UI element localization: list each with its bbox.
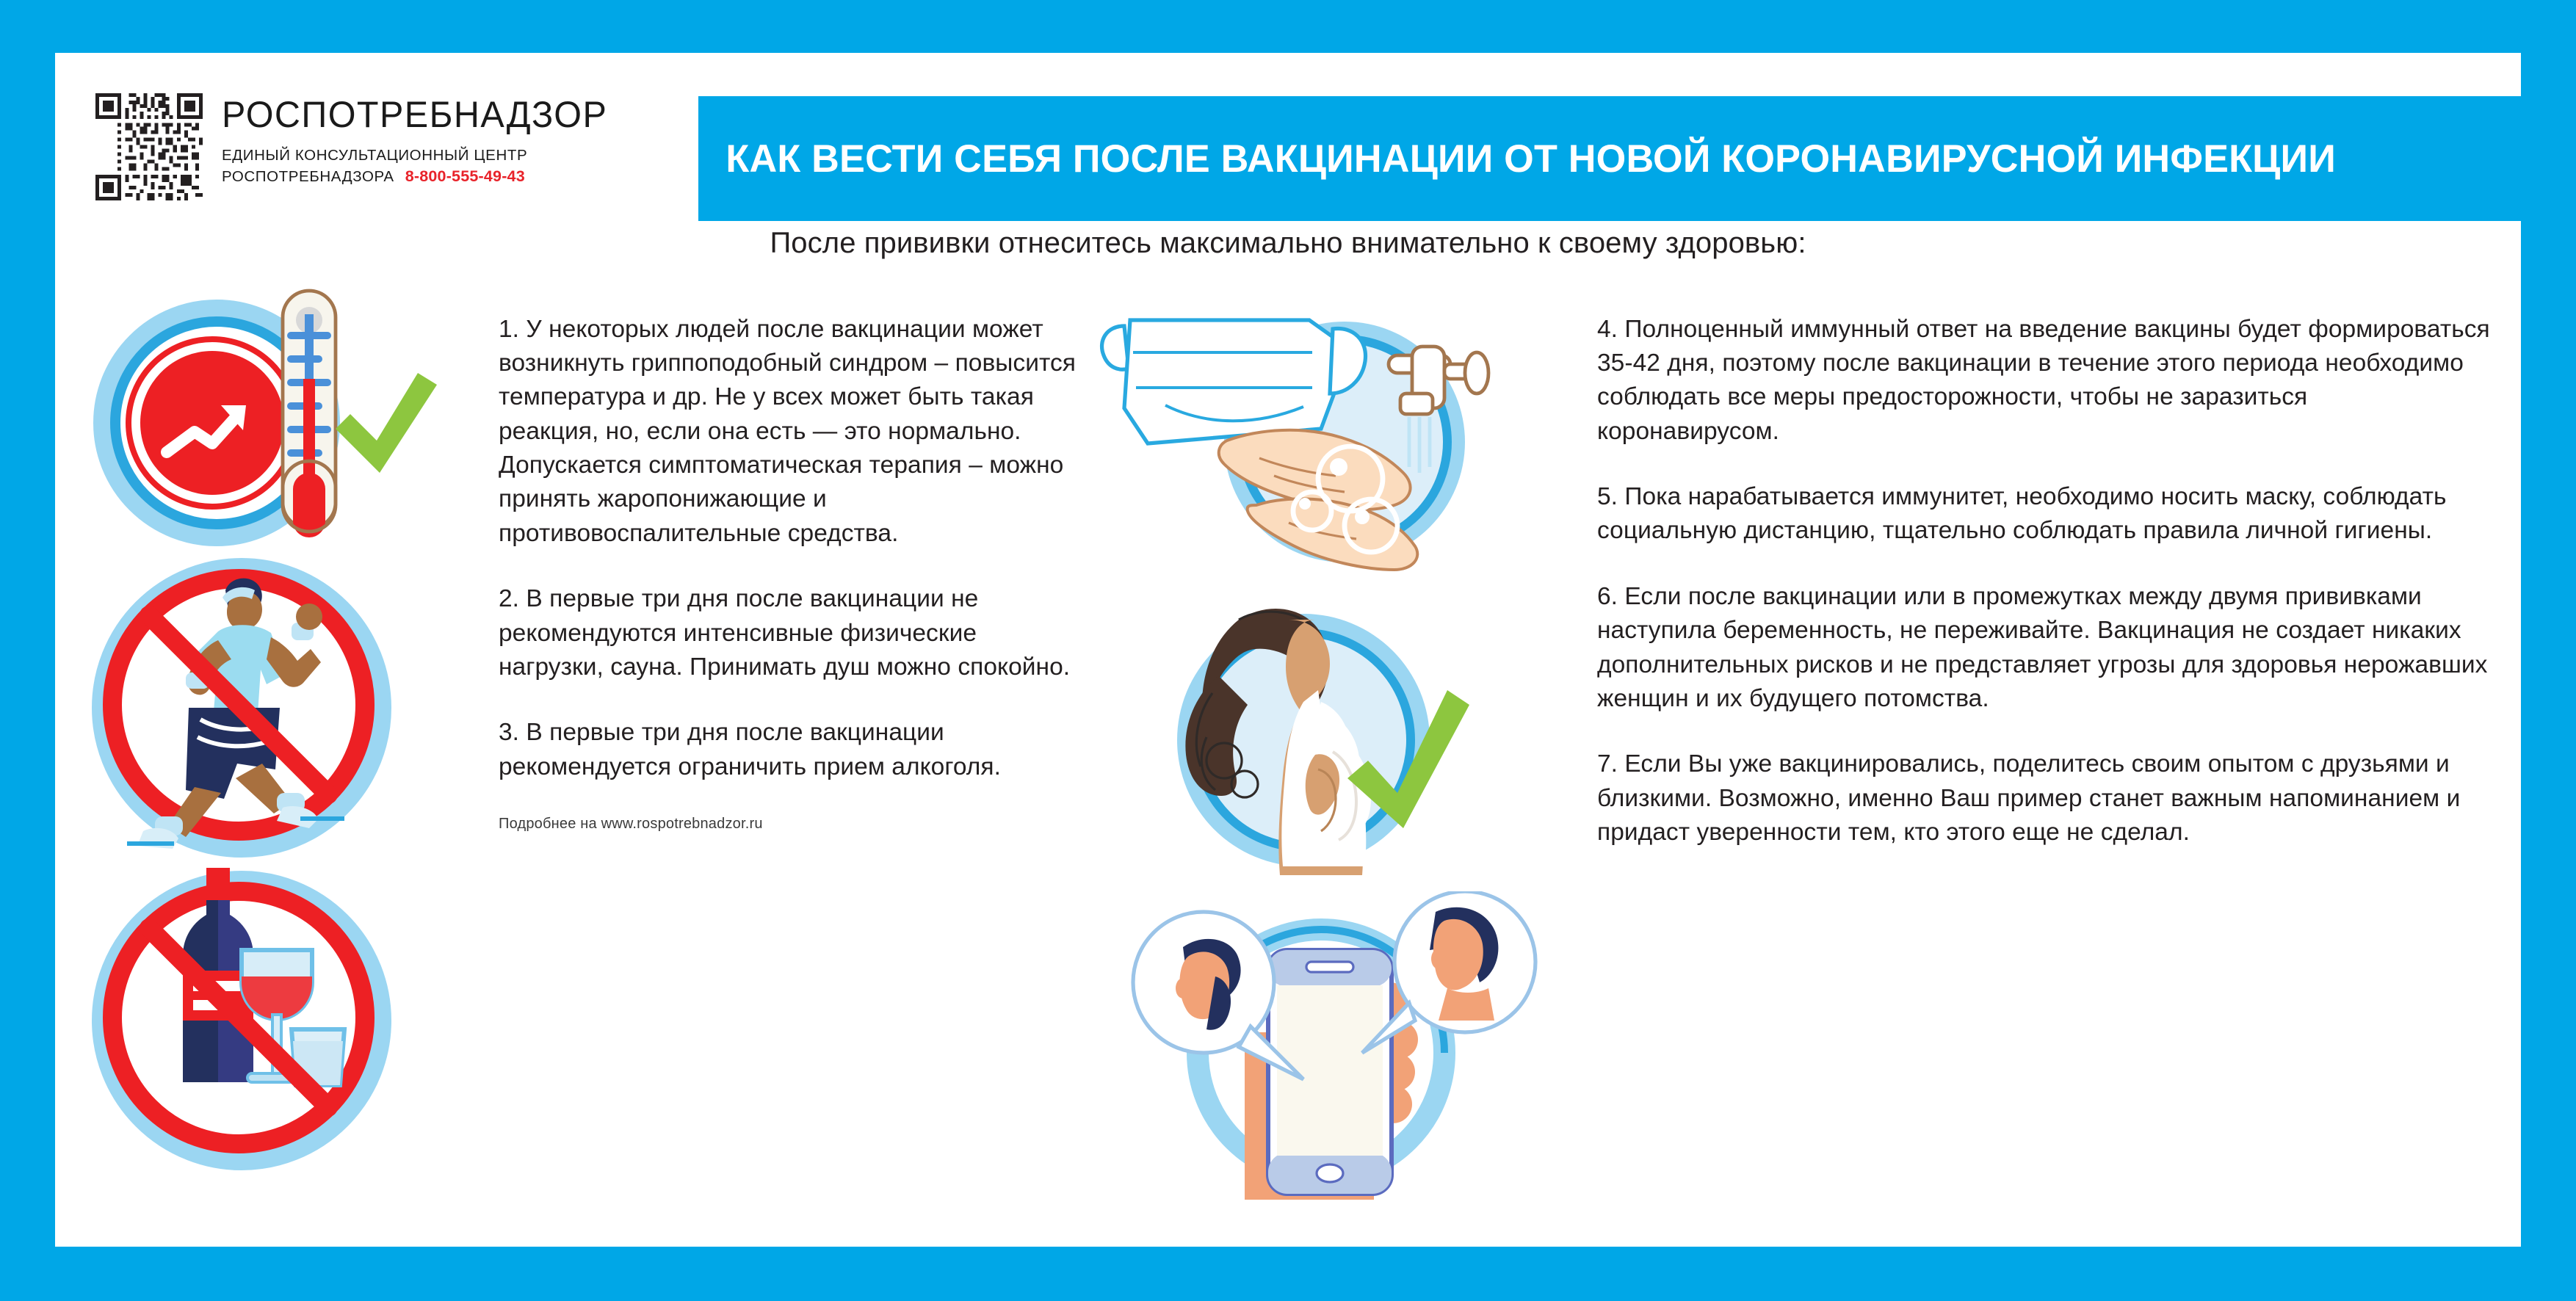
left-icon-column (77, 288, 488, 1176)
body-area: 1. У некоторых людей после вакцинации мо… (55, 288, 2521, 1247)
banner-title: КАК ВЕСТИ СЕБЯ ПОСЛЕ ВАКЦИНАЦИИ ОТ НОВОЙ… (698, 137, 2336, 181)
share-experience-phone-icon (1098, 891, 1553, 1200)
tip-paragraph-5: 5. Пока нарабатывается иммунитет, необхо… (1597, 480, 2493, 548)
left-text-column: 1. У некоторых людей после вакцинации мо… (499, 288, 1079, 833)
tip-paragraph-2: 2. В первые три дня после вакцинации не … (499, 582, 1079, 684)
poster-white-sheet: РОСПОТРЕБНАДЗОР ЕДИНЫЙ КОНСУЛЬТАЦИОННЫЙ … (55, 53, 2521, 1247)
pregnant-woman-icon (1098, 596, 1553, 905)
header-banner: КАК ВЕСТИ СЕБЯ ПОСЛЕ ВАКЦИНАЦИИ ОТ НОВОЙ… (698, 96, 2521, 221)
rospotrebnadzor-logo-block: РОСПОТРЕБНАДЗОР ЕДИНЫЙ КОНСУЛЬТАЦИОННЫЙ … (95, 93, 620, 200)
mask-handwashing-icon (1098, 288, 1553, 604)
header: РОСПОТРЕБНАДЗОР ЕДИНЫЙ КОНСУЛЬТАЦИОННЫЙ … (55, 53, 2521, 222)
tip-paragraph-6: 6. Если после вакцинации или в промежутк… (1597, 580, 2493, 717)
org-name: РОСПОТРЕБНАДЗОР (222, 96, 607, 133)
poster-root: РОСПОТРЕБНАДЗОР ЕДИНЫЙ КОНСУЛЬТАЦИОННЫЙ … (0, 0, 2576, 1301)
tip-paragraph-3: 3. В первые три дня после вакцинации рек… (499, 716, 1079, 784)
subtitle: После прививки отнеситесь максимально вн… (55, 227, 2521, 260)
tip-paragraph-7: 7. Если Вы уже вакцинировались, поделите… (1597, 747, 2493, 849)
right-text-column: 4. Полноценный иммунный ответ на введени… (1597, 288, 2493, 882)
footnote-website[interactable]: Подробнее на www.rospotrebnadzor.ru (499, 816, 1079, 833)
tip-paragraph-1: 1. У некоторых людей после вакцинации мо… (499, 313, 1079, 551)
no-alcohol-icon (77, 868, 488, 1176)
consulting-center-block: ЕДИНЫЙ КОНСУЛЬТАЦИОННЫЙ ЦЕНТР РОСПОТРЕБН… (222, 145, 620, 187)
consulting-center-line2: РОСПОТРЕБНАДЗОРА (222, 167, 394, 187)
consulting-center-line1: ЕДИНЫЙ КОНСУЛЬТАЦИОННЫЙ ЦЕНТР (222, 145, 620, 166)
no-running-exercise-icon (77, 555, 488, 871)
hotline-phone[interactable]: 8-800-555-49-43 (405, 166, 525, 187)
logo-text-block: РОСПОТРЕБНАДЗОР ЕДИНЫЙ КОНСУЛЬТАЦИОННЫЙ … (222, 93, 620, 187)
tip-paragraph-4: 4. Полноценный иммунный ответ на введени… (1597, 313, 2493, 449)
thermometer-fever-icon (77, 288, 488, 559)
middle-icon-column (1098, 288, 1553, 1200)
qr-code-icon (95, 93, 203, 200)
